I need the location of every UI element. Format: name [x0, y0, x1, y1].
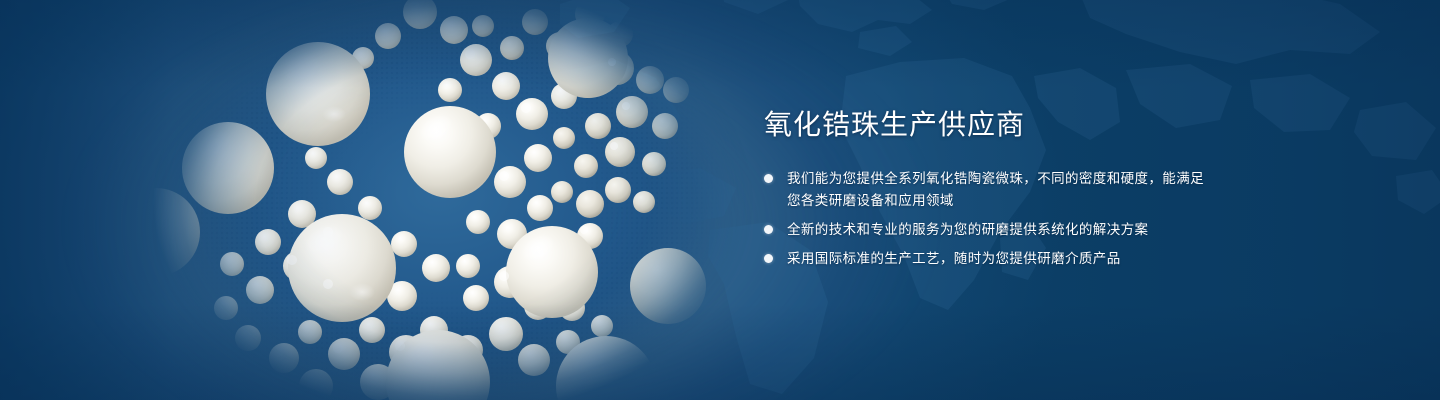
bullet-dot-icon [764, 225, 773, 234]
banner-content: 氧化锆珠生产供应商 我们能为您提供全系列氧化锆陶瓷微珠，不同的密度和硬度，能满足… [764, 108, 1364, 270]
bullet-dot-icon [764, 254, 773, 263]
list-item: 我们能为您提供全系列氧化锆陶瓷微珠，不同的密度和硬度，能满足您各类研磨设备和应用… [764, 168, 1364, 212]
bullet-dot-icon [764, 174, 773, 183]
list-item: 全新的技术和专业的服务为您的研磨提供系统化的解决方案 [764, 219, 1364, 241]
feature-text: 采用国际标准的生产工艺，随时为您提供研磨介质产品 [787, 248, 1121, 270]
banner-title: 氧化锆珠生产供应商 [764, 108, 1364, 142]
feature-list: 我们能为您提供全系列氧化锆陶瓷微珠，不同的密度和硬度，能满足您各类研磨设备和应用… [764, 168, 1364, 270]
list-item: 采用国际标准的生产工艺，随时为您提供研磨介质产品 [764, 248, 1364, 270]
hero-banner: 氧化锆珠生产供应商 我们能为您提供全系列氧化锆陶瓷微珠，不同的密度和硬度，能满足… [0, 0, 1440, 400]
feature-text: 我们能为您提供全系列氧化锆陶瓷微珠，不同的密度和硬度，能满足您各类研磨设备和应用… [787, 168, 1207, 212]
feature-text: 全新的技术和专业的服务为您的研磨提供系统化的解决方案 [787, 219, 1148, 241]
